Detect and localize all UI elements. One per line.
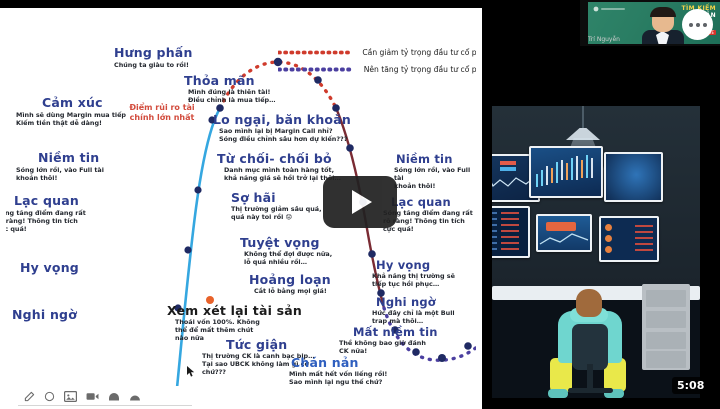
mask-icon[interactable] [108,391,120,402]
label-nghi-ngo-left: Nghi ngờ [12,308,77,321]
label-chan-nan: Chán nản Mình mất hết vốn liếng rồi! Sao… [291,356,387,387]
label-so-hai: Sợ hãi Thị trường giảm sâu quá, quá này … [231,191,322,222]
presenter-name: Trí Nguyễn [588,36,620,43]
label-tuyet-vong: Tuyệt vọng Không thể đợi được nữa, lỗ qu… [240,236,332,267]
label-niem-tin-right: Niềm tin Sóng lớn rồi, vào Full tài khoả… [396,153,476,191]
circle-icon[interactable] [44,391,55,402]
label-hy-vong-right: Hy vọng Khả năng thị trường sẽ tiếp tục … [376,259,455,289]
label-nghi-ngo-right: Nghi ngờ Hức đây chỉ là một Bull trap mà… [376,296,455,326]
label-niem-tin-left: Niềm tin Sóng lớn rồi, vào Full tài khoả… [38,151,104,183]
trader-illustration-panel [484,104,720,401]
label-lo-ngai: Lo ngại, băn khoăn Sao mình lại bị Margi… [213,113,351,144]
image-icon[interactable] [64,391,77,402]
monitor-order-board [492,206,530,258]
lamp-cord [582,106,584,130]
monitor-right [604,152,663,202]
shape-icon[interactable] [129,391,141,402]
editor-toolbar[interactable] [0,386,482,409]
legend-label-increase: Nên tăng tỷ trọng đầu tư cổ phiếu [364,65,476,74]
screenshot-root: Hưng phấn Chúng ta giàu to rồi! Thỏa mãn… [0,0,720,409]
video-icon[interactable] [86,391,99,402]
chair-base [568,388,613,393]
chart-legend: Cần giảm tỷ trọng đầu tư cổ phiếu Nên tă… [278,44,476,78]
video-duration: 5:08 [672,377,709,394]
label-tu-choi: Từ chối- chối bỏ Danh mục mình toàn hàng… [217,152,341,183]
legend-label-reduce: Cần giảm tỷ trọng đầu tư cổ phiếu [362,48,476,57]
more-options-button[interactable] [682,9,713,40]
dot-2-icon [696,23,700,27]
monitor-laptop [536,214,592,252]
label-lac-quan-right: Lạc quan Sóng tăng điểm đang rất rõ ràng… [391,196,473,234]
label-hung-phan: Hưng phấn Chúng ta giàu to rồi! [114,46,193,70]
slide-inner: Hưng phấn Chúng ta giàu to rồi! Thỏa mãn… [6,8,476,390]
label-hoang-loan: Hoảng loạn Cắt lỗ bằng mọi giá! [249,273,331,296]
dot-1-icon [689,23,693,27]
monitor-dashboard [599,216,659,262]
leg-left [550,358,572,392]
drawer-unit [642,284,690,370]
label-hy-vong-left: Hy vọng [20,261,79,274]
annotation-peak-risk: Điểm rủi ro tài chính lớn nhất [118,103,206,124]
monitor-center [529,146,603,198]
presenter-hair [650,7,676,17]
mouse-cursor [187,366,195,377]
legend-swatch-purple [278,65,355,74]
play-button[interactable] [323,176,397,228]
trader-illustration [492,106,700,398]
legend-item-increase: Nên tăng tỷ trọng đầu tư cổ phiếu [278,61,476,78]
legend-item-reduce: Cần giảm tỷ trọng đầu tư cổ phiếu [278,44,476,61]
slide-canvas: Hưng phấn Chúng ta giàu to rồi! Thỏa mãn… [0,8,482,401]
label-mat-niem-tin: Mất niềm tin Thề không bao giờ đánh CK n… [353,326,438,356]
label-thoa-man: Thỏa mãn Mình đúng là thiên tài! Điều ch… [184,74,276,105]
video-player[interactable]: Hưng phấn Chúng ta giàu to rồi! Thỏa mãn… [0,0,720,409]
brand-logo-icon [593,6,627,12]
shoe-left [548,389,568,398]
dot-3-icon [703,23,707,27]
toolbar-divider [18,405,192,406]
legend-swatch-red [278,48,353,57]
person-head [576,289,602,317]
presenter-figure [640,8,686,44]
label-lac-quan-left: Lạc quan Sóng tăng điểm đang rất rõ ràng… [14,194,86,234]
label-cam-xuc: Cảm xúc Mình sẽ dùng Margin mua tiếp Kiế… [42,96,126,128]
pen-icon[interactable] [24,391,35,402]
chair-pole [587,364,593,390]
